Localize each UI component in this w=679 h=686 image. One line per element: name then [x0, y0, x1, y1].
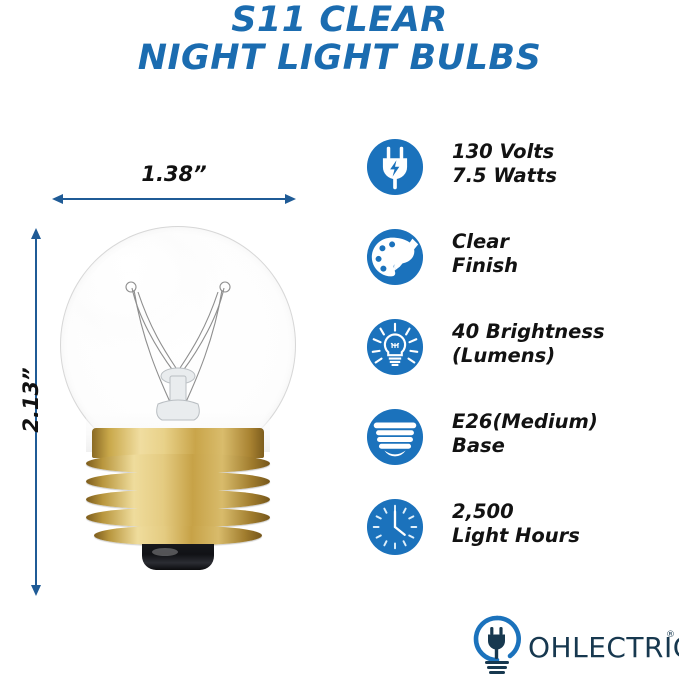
feature-text-base: E26(Medium) Base: [452, 410, 667, 458]
feature-line-1: E26(Medium): [452, 410, 667, 434]
feature-line-1: Clear: [452, 230, 667, 254]
title-line-2: NIGHT LIGHT BULBS: [0, 40, 679, 78]
feature-line-2: Finish: [452, 254, 667, 278]
width-dimension-label: 1.38”: [52, 162, 296, 186]
trademark-symbol: ®: [666, 630, 675, 640]
plug-icon: [366, 138, 424, 196]
clock-icon: [366, 498, 424, 556]
feature-line-1: 2,500: [452, 500, 667, 524]
feature-line-2: Base: [452, 434, 667, 458]
base-thread: [86, 508, 270, 527]
width-arrow-icon: [52, 188, 296, 210]
feature-line-2: Light Hours: [452, 524, 667, 548]
height-dimension-label: 2.13”: [19, 335, 43, 465]
paint-palette-icon: [366, 228, 424, 286]
feature-text-hours: 2,500 Light Hours: [452, 500, 667, 548]
brand-logo: OHLECTRIC ®: [466, 614, 671, 678]
feature-text-brightness: 40 Brightness (Lumens): [452, 320, 667, 368]
bulb-plug-logo-icon: [466, 614, 528, 676]
light-bulb-rays-icon: [366, 318, 424, 376]
screw-base-icon: [366, 408, 424, 466]
feature-item-finish: Clear Finish: [366, 228, 666, 318]
feature-text-finish: Clear Finish: [452, 230, 667, 278]
bulb-filament-icon: [98, 276, 258, 436]
base-thread: [86, 490, 270, 509]
feature-item-hours: 2,500 Light Hours: [366, 498, 666, 588]
title-line-1: S11 CLEAR: [0, 2, 679, 40]
width-dimension: 1.38”: [52, 188, 296, 218]
height-dimension: 2.13”: [18, 228, 48, 598]
base-contact-tip: [142, 544, 214, 570]
feature-text-voltage: 130 Volts 7.5 Watts: [452, 140, 667, 188]
infographic-canvas: S11 CLEAR NIGHT LIGHT BULBS: [0, 0, 679, 686]
product-bulb-image: [58, 226, 298, 596]
base-contact-highlight: [152, 548, 178, 556]
feature-item-brightness: 40 Brightness (Lumens): [366, 318, 666, 408]
bulb-brass-base: [86, 428, 270, 568]
page-title: S11 CLEAR NIGHT LIGHT BULBS: [0, 2, 679, 78]
feature-line-1: 40 Brightness: [452, 320, 667, 344]
base-thread: [86, 472, 270, 491]
feature-line-1: 130 Volts: [452, 140, 667, 164]
brand-name: OHLECTRIC: [528, 631, 679, 664]
feature-list: 130 Volts 7.5 Watts: [366, 138, 666, 588]
base-thread: [86, 454, 270, 473]
feature-item-base: E26(Medium) Base: [366, 408, 666, 498]
feature-line-2: 7.5 Watts: [452, 164, 667, 188]
base-thread: [94, 526, 262, 545]
feature-line-2: (Lumens): [452, 344, 667, 368]
feature-item-voltage: 130 Volts 7.5 Watts: [366, 138, 666, 228]
